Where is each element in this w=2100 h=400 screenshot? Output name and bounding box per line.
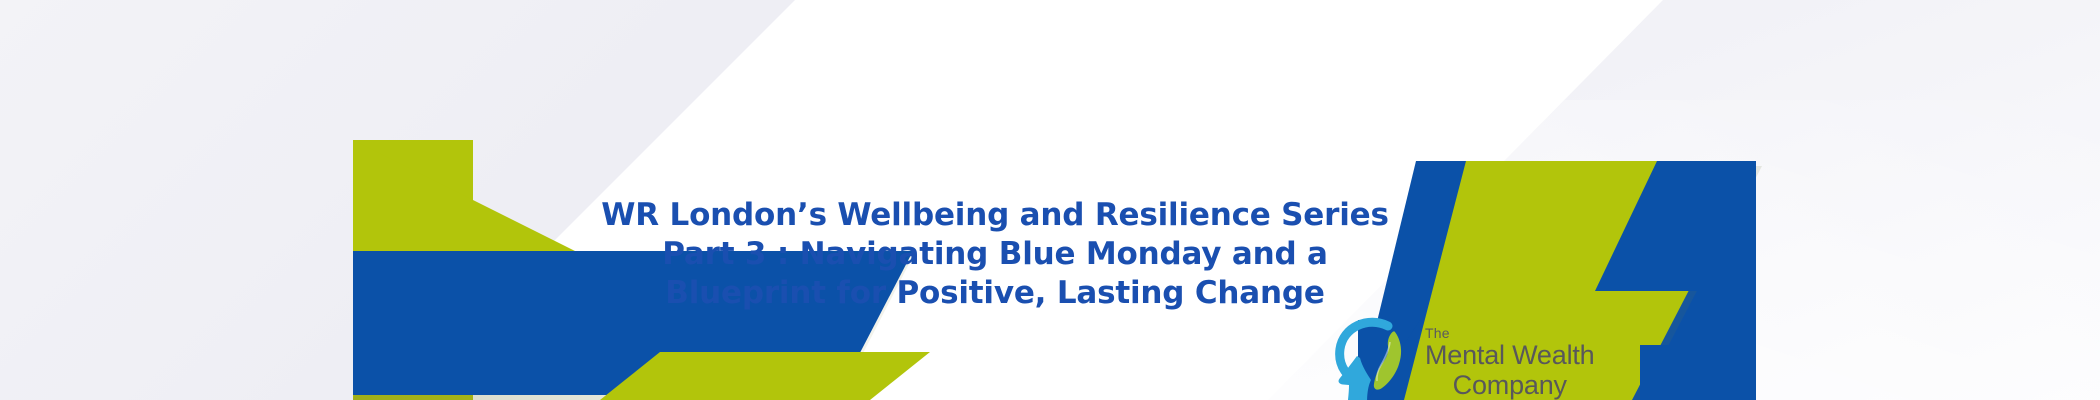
- logo-wordmark: The Mental Wealth Company: [1425, 312, 1595, 400]
- right-blue-bottom-strip-shape: [1640, 345, 1756, 400]
- title-line-2: Part 3 : Navigating Blue Monday and a: [0, 235, 1990, 274]
- head-profile-leaf-icon: [1327, 312, 1419, 400]
- mental-wealth-company-logo: The Mental Wealth Company: [1327, 312, 1657, 400]
- title-line-1: WR London’s Wellbeing and Resilience Ser…: [0, 196, 1990, 235]
- promo-banner: WR London’s Wellbeing and Resilience Ser…: [0, 0, 2100, 400]
- banner-title: WR London’s Wellbeing and Resilience Ser…: [0, 196, 1990, 313]
- logo-mental-wealth-text: Mental Wealth: [1425, 340, 1595, 370]
- title-line-3: Blueprint for Positive, Lasting Change: [0, 274, 1990, 313]
- logo-the-text: The: [1425, 326, 1595, 340]
- logo-company-text: Company: [1425, 370, 1595, 400]
